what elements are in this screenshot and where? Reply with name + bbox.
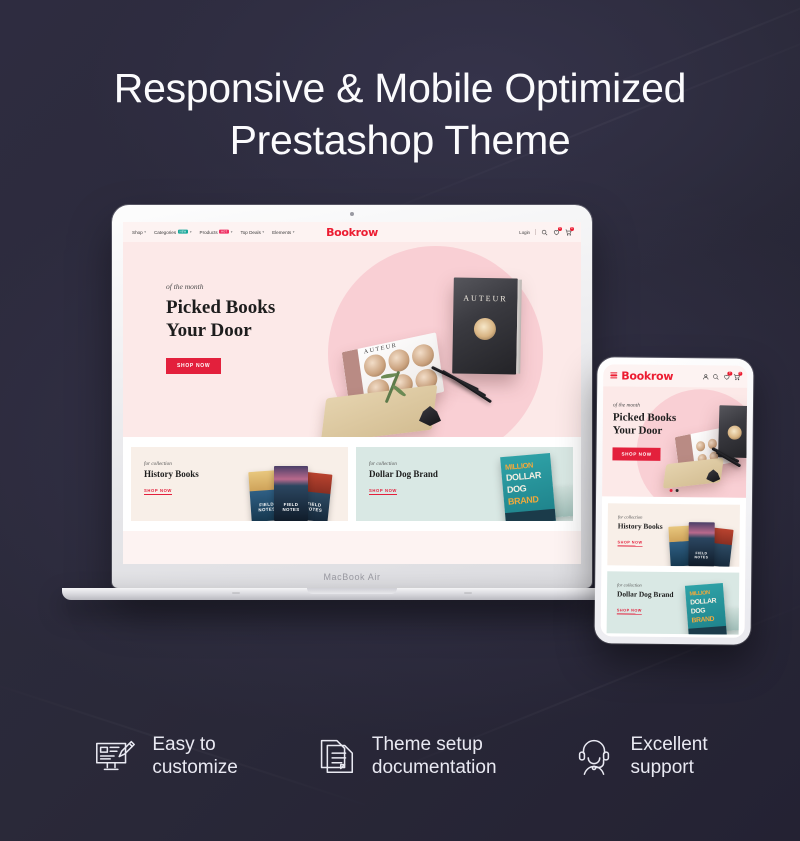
book-cover-photo	[728, 425, 742, 439]
feature-label-line-1: Theme setup	[372, 733, 497, 756]
mobile-hero-eyebrow: of the month	[613, 402, 676, 409]
feature-theme-setup-documentation: Theme setup documentation	[312, 733, 497, 779]
hero-title: Picked Books Your Door	[166, 296, 275, 342]
book-word: DOLLAR	[690, 597, 720, 606]
carousel-dot-active[interactable]	[670, 489, 673, 492]
chevron-down-icon: ▾	[231, 230, 233, 234]
hero-title-line-1: Picked Books	[166, 297, 275, 318]
hero-eyebrow: of the month	[166, 282, 275, 291]
book-cover: FIELD NOTES	[274, 466, 308, 521]
cart-count-badge: 0	[570, 227, 574, 231]
nav-item-top-deals[interactable]: Top Deals ▾	[240, 230, 264, 235]
site-header: Shop ▾ Categories NEW ▾ Products HOT ▾	[123, 222, 581, 242]
collection-banner-dollar-dog-brand[interactable]: for collection Dollar Dog Brand SHOP NOW…	[356, 447, 573, 521]
headline-line-1: Responsive & Mobile Optimized	[114, 65, 686, 111]
mobile-banner-history-books[interactable]: for collection History Books SHOP NOW FI…	[607, 503, 740, 566]
divider	[535, 229, 536, 235]
feature-label-line-2: documentation	[372, 756, 497, 779]
nav-label: Categories	[154, 230, 176, 235]
mobile-hero-copy: of the month Picked Books Your Door SHOP…	[612, 402, 676, 461]
nav-item-shop[interactable]: Shop ▾	[132, 230, 146, 235]
book-word: BRAND	[508, 494, 551, 507]
chevron-down-icon: ▾	[144, 230, 146, 234]
laptop-mockup: Shop ▾ Categories NEW ▾ Products HOT ▾	[112, 205, 592, 600]
laptop-foot	[464, 592, 472, 594]
banner-product-books: FIELD NOTES FIELD NOTES	[240, 451, 344, 521]
book-footer-band	[688, 626, 727, 635]
nav-item-categories[interactable]: Categories NEW ▾	[154, 230, 192, 235]
chevron-down-icon: ▾	[262, 230, 264, 234]
nav-label: Top Deals	[240, 230, 260, 235]
feature-easy-to-customize: Easy to customize	[92, 733, 238, 779]
mobile-banner-dollar-dog-brand[interactable]: for collection Dollar Dog Brand SHOP NOW…	[607, 571, 740, 634]
monitor-brush-icon	[92, 733, 138, 779]
banner-shop-now-link[interactable]: SHOP NOW	[369, 488, 397, 495]
main-navigation: Shop ▾ Categories NEW ▾ Products HOT ▾	[132, 230, 294, 235]
mobile-header: Bookrow 0 0	[603, 364, 747, 388]
hero-shop-now-button[interactable]: SHOP NOW	[166, 358, 221, 374]
search-icon[interactable]	[712, 373, 719, 380]
book-word: DOLLAR	[506, 470, 549, 483]
carousel-dot[interactable]	[676, 489, 679, 492]
laptop-lid: Shop ▾ Categories NEW ▾ Products HOT ▾	[112, 205, 592, 588]
mobile-hero-title-line-2: Your Door	[613, 424, 663, 437]
book-word: DOG	[507, 482, 550, 495]
book-cover: FIELD NOTES	[688, 522, 714, 566]
wishlist-count-badge: 0	[558, 227, 562, 231]
feature-excellent-support: Excellent support	[571, 733, 708, 779]
desktop-screen: Shop ▾ Categories NEW ▾ Products HOT ▾	[123, 222, 581, 564]
mobile-screen: Bookrow 0 0	[601, 364, 748, 637]
cart-icon[interactable]: 0	[565, 229, 572, 236]
feature-list: Easy to customize Theme setup documentat…	[0, 733, 800, 779]
hamburger-menu-icon[interactable]	[610, 372, 617, 379]
feature-label: Easy to customize	[152, 733, 238, 779]
hero-book-title-2: AUTEUR	[453, 293, 517, 303]
carousel-dots[interactable]	[670, 489, 679, 492]
book-label: FIELD NOTES	[688, 551, 714, 559]
laptop-lid-notch	[307, 588, 397, 594]
book-cover-photo	[474, 318, 496, 340]
nav-item-products[interactable]: Products HOT ▾	[200, 230, 233, 235]
feature-label: Theme setup documentation	[372, 733, 497, 779]
mobile-cart-count-badge: 0	[738, 372, 742, 376]
heart-icon[interactable]: 0	[723, 373, 730, 380]
nav-label: Elements	[272, 230, 291, 235]
macbook-model-label: MacBook Air	[112, 572, 592, 582]
header-actions: Login 0 0	[519, 229, 572, 236]
documents-icon	[312, 733, 358, 779]
mobile-hero-shop-now-button[interactable]: SHOP NOW	[612, 447, 660, 461]
mobile-hero-book-standing	[718, 405, 747, 458]
phone-mockup: Bookrow 0 0	[595, 357, 754, 645]
heart-icon[interactable]: 0	[553, 229, 560, 236]
mobile-hero-slider: of the month Picked Books Your Door SHOP…	[602, 386, 747, 498]
nav-label: Products	[200, 230, 218, 235]
feature-label-line-1: Easy to	[152, 733, 238, 756]
camera-dot-icon	[350, 212, 354, 216]
login-link[interactable]: Login	[519, 230, 530, 235]
headline-line-2: Prestashop Theme	[0, 114, 800, 166]
nav-label: Shop	[132, 230, 143, 235]
hero-copy: of the month Picked Books Your Door SHOP…	[166, 282, 275, 374]
feature-label-line-1: Excellent	[631, 733, 708, 756]
chevron-down-icon: ▾	[293, 230, 295, 234]
collection-banner-history-books[interactable]: for collection History Books SHOP NOW FI…	[131, 447, 348, 521]
nav-item-elements[interactable]: Elements ▾	[272, 230, 294, 235]
banner-product-book: MILLION DOLLAR DOG BRAND	[500, 453, 556, 521]
book-word: BRAND	[691, 615, 721, 624]
user-icon[interactable]	[702, 373, 709, 380]
collection-banners: for collection History Books SHOP NOW FI…	[123, 437, 581, 531]
laptop-base	[62, 588, 642, 600]
mobile-wishlist-count-badge: 0	[727, 372, 731, 376]
laptop-foot	[232, 592, 240, 594]
book-word: DOG	[691, 606, 721, 615]
headset-support-icon	[571, 733, 617, 779]
mobile-site-logo[interactable]: Bookrow	[621, 369, 673, 383]
mobile-header-actions: 0 0	[702, 373, 741, 380]
nav-badge-hot: HOT	[219, 230, 229, 234]
hero-book-standing: AUTEUR	[452, 277, 518, 374]
book-footer-band	[505, 509, 556, 521]
site-logo[interactable]: Bookrow	[326, 226, 378, 239]
search-icon[interactable]	[541, 229, 548, 236]
mobile-hero-title: Picked Books Your Door	[613, 411, 677, 438]
banner-product-book: MILLION DOLLAR DOG BRAND	[685, 583, 727, 635]
page-headline: Responsive & Mobile Optimized Prestashop…	[0, 62, 800, 166]
banner-shop-now-link[interactable]: SHOP NOW	[144, 488, 172, 495]
chevron-down-icon: ▾	[190, 230, 192, 234]
hero-slider: AUTEUR AUTEUR of the month	[123, 242, 581, 437]
feature-label-line-2: support	[631, 756, 708, 779]
mobile-hero-title-line-1: Picked Books	[613, 411, 676, 424]
nav-badge-new: NEW	[178, 230, 189, 234]
hero-title-line-2: Your Door	[166, 320, 252, 341]
cart-icon[interactable]: 0	[733, 373, 740, 380]
banner-product-books: FIELD NOTES	[665, 512, 738, 567]
feature-label-line-2: customize	[152, 756, 238, 779]
banner-shop-now-link[interactable]: SHOP NOW	[618, 540, 643, 546]
banner-shop-now-link[interactable]: SHOP NOW	[617, 608, 642, 614]
book-label: FIELD NOTES	[274, 502, 308, 512]
mobile-collection-banners: for collection History Books SHOP NOW FI…	[601, 496, 746, 638]
feature-label: Excellent support	[631, 733, 708, 779]
